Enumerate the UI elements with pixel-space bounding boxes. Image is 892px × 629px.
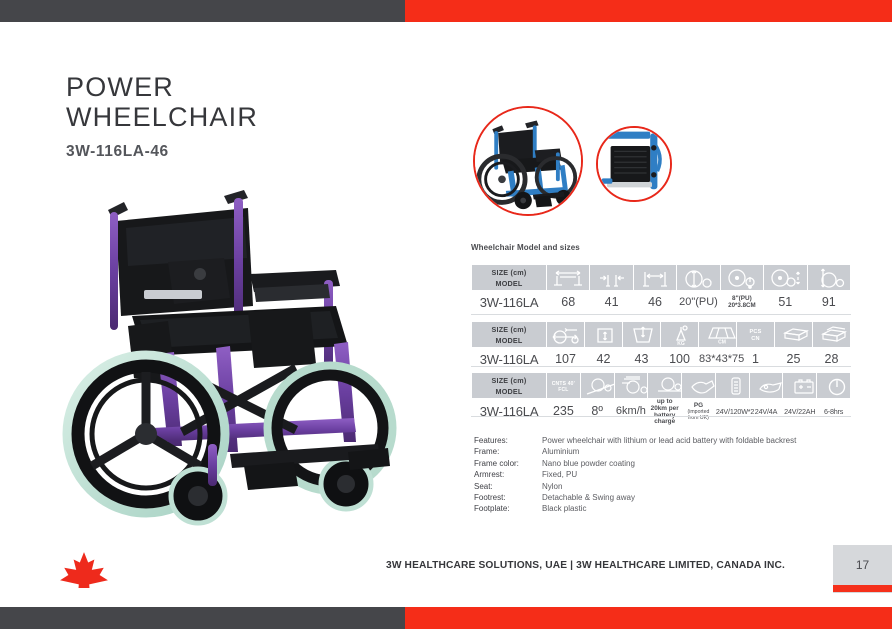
package-without-battery-icon: [775, 322, 812, 347]
front-caster-icon: [721, 265, 763, 290]
backrest-height-icon: [585, 322, 622, 347]
value-package-without-battery: 25: [775, 347, 812, 371]
pcs-cn-label: PCSCN: [737, 326, 774, 343]
value-package-with-battery: 28: [813, 347, 850, 371]
feature-row: Frame: Aluminium: [474, 446, 854, 457]
feature-value: Black plastic: [542, 503, 586, 514]
value-backrest-height: 42: [585, 347, 622, 371]
value-net-weight: 100: [661, 347, 698, 371]
spec-table-performance: SIZE (cm) MODEL CNTS 40' FCL: [471, 373, 851, 425]
folded-width-icon: [590, 265, 632, 290]
table-header-row: SIZE (cm) MODEL CNTS 40' FCL: [472, 373, 850, 398]
header-bar: [0, 0, 892, 22]
package-with-battery-icon: [813, 322, 850, 347]
feature-value: Power wheelchair with lithium or lead ac…: [542, 435, 796, 446]
table-data-row: 3W-116LA 107 42 43 100 83*43*75 1 25 28: [472, 347, 850, 371]
footer-bar-red-segment: [405, 607, 892, 629]
spec-table-caption: Wheelchair Model and sizes: [471, 243, 580, 252]
feature-row: Footrest: Detachable & Swing away: [474, 492, 854, 503]
row-model: 3W-116LA: [472, 347, 546, 371]
rear-wheel-icon: [677, 265, 719, 290]
table-data-row: 3W-116LA 68 41 46 20"(PU) 8"(PU) 20*3.8C…: [472, 290, 850, 314]
cnts-label: CNTS 40' FCL: [547, 378, 580, 393]
feature-value: Nano blue powder coating: [542, 458, 635, 469]
table-divider-3: [471, 416, 851, 417]
wheelchair-blue-thumb[interactable]: [473, 106, 583, 216]
motor-brand-icon: [682, 373, 715, 398]
max-speed-icon: [615, 373, 648, 398]
feature-value: Fixed, PU: [542, 469, 577, 480]
feature-key: Footplate:: [474, 503, 542, 514]
row-model: 3W-116LA: [472, 398, 546, 425]
value-front-caster: 8"(PU) 20*3.8CM: [721, 290, 763, 314]
value-climbing-angle: 8º: [581, 398, 614, 425]
product-thumbnails: [470, 104, 870, 216]
row-model: 3W-116LA: [472, 290, 546, 314]
value-controller: 24V/4A: [750, 398, 783, 425]
feature-key: Frame:: [474, 446, 542, 457]
table-header-row: SIZE (cm) MODEL: [472, 265, 850, 290]
header-size-model-label: SIZE (cm) MODEL: [472, 322, 546, 347]
value-overall-width: 68: [547, 290, 589, 314]
value-front-caster-sub: 20*3.8CM: [721, 303, 763, 309]
value-motor-brand: PG (imported from UK): [682, 398, 715, 425]
spec-table-dimensions: SIZE (cm) MODEL KG: [471, 322, 851, 371]
table-divider-2: [471, 366, 851, 367]
page-number: 17: [833, 545, 892, 585]
header-size-model-label: SIZE (cm) MODEL: [472, 265, 546, 290]
title-line-1: POWER: [66, 72, 258, 102]
carton-size-icon: CM: [699, 322, 736, 347]
seat-depth-icon: [623, 322, 660, 347]
footer-bar: [0, 607, 892, 629]
value-folded-width: 41: [590, 290, 632, 314]
feature-value: Nylon: [542, 481, 562, 492]
feature-value: Aluminium: [542, 446, 579, 457]
feature-key: Frame color:: [474, 458, 542, 469]
header-size-line: SIZE (cm): [472, 375, 546, 386]
feature-key: Seat:: [474, 481, 542, 492]
model-code: 3W-116LA-46: [66, 143, 258, 161]
features-list: Features: Power wheelchair with lithium …: [474, 435, 854, 515]
maple-leaf-logo: [58, 548, 110, 588]
value-overall-height: 91: [808, 290, 850, 314]
value-battery: 24V/22AH: [783, 398, 816, 425]
overall-length-icon: [547, 322, 584, 347]
header-model-line: MODEL: [472, 278, 546, 289]
table-divider-1: [471, 314, 851, 315]
page-badge-accent: [833, 585, 892, 592]
header-model-line: MODEL: [472, 335, 546, 346]
value-range-main: up to 20km per: [651, 398, 679, 412]
table-header-row: SIZE (cm) MODEL KG: [472, 322, 850, 347]
svg-text:KG: KG: [677, 341, 685, 346]
page-number-badge: 17: [833, 545, 892, 593]
feature-row: Features: Power wheelchair with lithium …: [474, 435, 854, 446]
feature-row: Footplate: Black plastic: [474, 503, 854, 514]
overall-height-icon: [808, 265, 850, 290]
header-size-line: SIZE (cm): [472, 267, 546, 278]
value-carton-size: 83*43*75: [699, 347, 736, 371]
spec-table-sizes: SIZE (cm) MODEL: [471, 265, 851, 314]
value-motor-power: 24V/120W*2: [716, 398, 749, 425]
value-rear-wheel: 20"(PU): [677, 290, 719, 314]
feature-key: Features:: [474, 435, 542, 446]
feature-value: Detachable & Swing away: [542, 492, 635, 503]
net-weight-icon: KG: [661, 322, 698, 347]
table-data-row: 3W-116LA 235 8º 6km/h up to 20km per bat…: [472, 398, 850, 425]
controller-icon: [750, 373, 783, 398]
feature-key: Armrest:: [474, 469, 542, 480]
value-range-sub: battery charge: [648, 413, 681, 425]
feature-row: Armrest: Fixed, PU: [474, 469, 854, 480]
value-seat-width: 46: [634, 290, 676, 314]
battery-detail-thumb[interactable]: [596, 126, 672, 202]
svg-text:CM: CM: [718, 339, 726, 345]
footer-company-text: 3W HEALTHCARE SOLUTIONS, UAE | 3W HEALTH…: [386, 560, 785, 571]
climbing-angle-icon: [581, 373, 614, 398]
page-title: POWER WHEELCHAIR 3W-116LA-46: [66, 72, 258, 161]
motor-power-icon: [716, 373, 749, 398]
value-overall-length: 107: [547, 347, 584, 371]
header-model-line: MODEL: [472, 386, 546, 397]
seat-width-icon: [634, 265, 676, 290]
header-bar-dark-segment: [0, 0, 405, 22]
feature-row: Seat: Nylon: [474, 481, 854, 492]
pcs-per-carton-icon: PCSCN: [737, 322, 774, 347]
range-icon: [648, 373, 681, 398]
value-range: up to 20km per battery charge: [648, 398, 681, 425]
feature-row: Frame color: Nano blue powder coating: [474, 458, 854, 469]
footer-bar-dark-segment: [0, 607, 405, 629]
feature-key: Footrest:: [474, 492, 542, 503]
seat-height-icon: [764, 265, 806, 290]
charging-time-icon: [817, 373, 850, 398]
title-line-2: WHEELCHAIR: [66, 102, 258, 132]
value-max-speed: 6km/h: [615, 398, 648, 425]
overall-width-icon: [547, 265, 589, 290]
value-seat-height: 51: [764, 290, 806, 314]
header-bar-red-segment: [405, 0, 892, 22]
value-charging-time: 6-8hrs: [817, 398, 850, 425]
product-photo: [48, 166, 398, 546]
value-motor-brand-main: PG: [694, 402, 703, 409]
value-cnts-40ft-fcl: 235: [547, 398, 580, 425]
header-size-line: SIZE (cm): [472, 324, 546, 335]
header-size-model-label: SIZE (cm) MODEL: [472, 373, 546, 398]
value-seat-depth: 43: [623, 347, 660, 371]
cnts-40ft-fcl-icon: CNTS 40' FCL: [547, 373, 580, 398]
battery-icon: [783, 373, 816, 398]
